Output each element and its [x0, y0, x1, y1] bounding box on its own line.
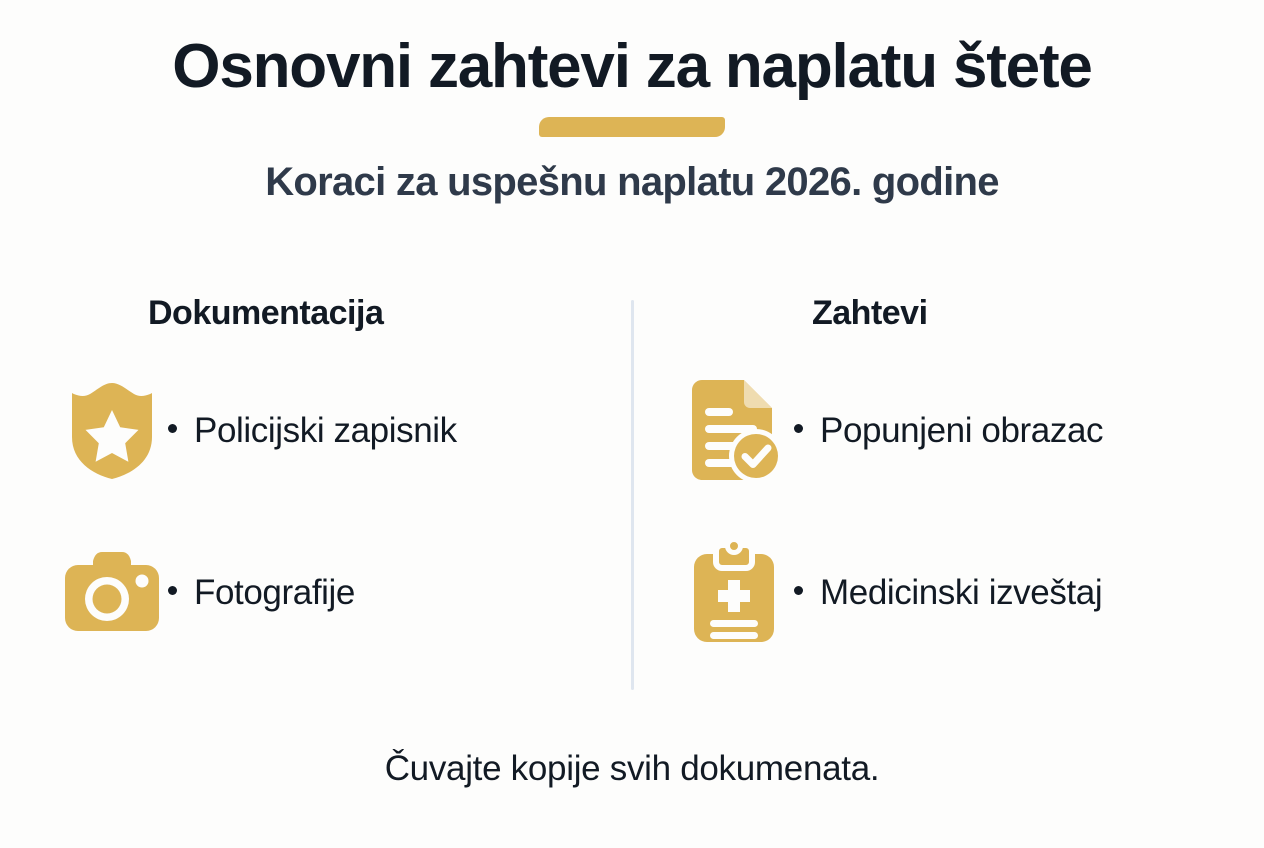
item-label: Fotografije [194, 572, 355, 614]
bullet-icon [168, 424, 177, 433]
page-subtitle: Koraci za uspešnu naplatu 2026. godine [0, 160, 1264, 204]
bullet-icon [794, 586, 803, 595]
column-zahtevi: Zahtevi [674, 294, 1234, 649]
list-item: Medicinski izveštaj [674, 537, 1234, 649]
list-item: Popunjeni obrazac [674, 375, 1234, 487]
header: Osnovni zahtevi za naplatu štete Koraci … [0, 34, 1264, 204]
footer-note: Čuvajte kopije svih dokumenata. [0, 748, 1264, 790]
police-badge-icon [56, 375, 168, 487]
column-divider [631, 300, 634, 690]
item-label: Policijski zapisnik [194, 410, 457, 452]
accent-bar-wrap [0, 116, 1264, 138]
item-text: Policijski zapisnik [168, 410, 457, 452]
gold-accent-bar [539, 117, 725, 137]
bullet-icon [794, 424, 803, 433]
document-check-icon [674, 375, 794, 487]
column-heading-left: Dokumentacija [148, 294, 616, 333]
item-text: Medicinski izveštaj [794, 572, 1102, 614]
item-text: Fotografije [168, 572, 355, 614]
bullet-icon [168, 586, 177, 595]
page-title: Osnovni zahtevi za naplatu štete [0, 34, 1264, 99]
column-heading-right: Zahtevi [812, 294, 1234, 333]
medical-clipboard-icon [674, 537, 794, 649]
item-label: Medicinski izveštaj [820, 572, 1102, 614]
columns-section: Dokumentacija Policijski zapisnik [0, 294, 1264, 694]
camera-icon [56, 537, 168, 649]
footer: Čuvajte kopije svih dokumenata. [0, 748, 1264, 790]
item-list-left: Policijski zapisnik [56, 375, 616, 649]
infographic-poster: Osnovni zahtevi za naplatu štete Koraci … [0, 0, 1264, 848]
item-list-right: Popunjeni obrazac [674, 375, 1234, 649]
list-item: Policijski zapisnik [56, 375, 616, 487]
list-item: Fotografije [56, 537, 616, 649]
item-text: Popunjeni obrazac [794, 410, 1103, 452]
column-dokumentacija: Dokumentacija Policijski zapisnik [56, 294, 616, 649]
item-label: Popunjeni obrazac [820, 410, 1103, 452]
